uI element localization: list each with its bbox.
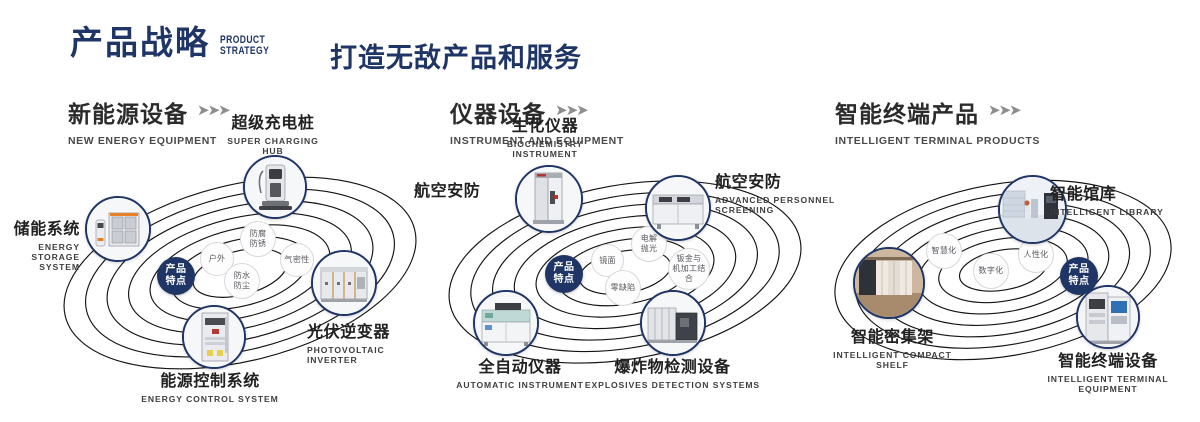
chevron-right-icon: ➤➤➤ xyxy=(988,101,1020,119)
node-photovoltaic-inverter[interactable] xyxy=(311,250,377,316)
label-cn: 智能终端设备 xyxy=(1023,347,1193,371)
core-line-2: 特点 xyxy=(166,276,187,288)
core-line-1: 产品 xyxy=(166,264,187,276)
label-cn: 智能馆库 xyxy=(1050,180,1185,204)
label-en: INTELLIGENT LIBRARY xyxy=(1050,207,1185,217)
label-intelligent-terminal-equipment: 智能终端设备 INTELLIGENT TERMINAL EQUIPMENT xyxy=(1023,347,1193,394)
header-title-cn: 产品战略 xyxy=(70,26,210,59)
feature-bubble: 钣金与 机加工结合 xyxy=(668,248,710,290)
label-cn: 超级充电桩 xyxy=(223,109,323,133)
diagram-new-energy: 产品 特点 户外 防腐 防锈 防水 防尘 气密性 xyxy=(55,155,425,385)
feature-line-1: 户外 xyxy=(209,254,226,264)
label-cn: 航空安防 xyxy=(715,168,845,192)
feature-bubble: 防腐 防锈 xyxy=(240,221,276,257)
label-cn: 爆炸物检测设备 xyxy=(575,353,770,377)
node-automatic-instrument[interactable] xyxy=(473,290,539,356)
node-energy-control-system[interactable] xyxy=(182,305,246,369)
label-cn: 航空安防 xyxy=(414,177,504,201)
feature-line-1: 电解 xyxy=(641,234,658,244)
feature-bubble: 零缺陷 xyxy=(605,270,641,306)
node-intelligent-compact-shelf[interactable] xyxy=(853,247,925,319)
label-cn: 生化仪器 xyxy=(470,112,620,136)
self-service-kiosk-icon xyxy=(1078,287,1138,347)
label-en: BIOCHEMISTRY INSTRUMENT xyxy=(470,139,620,159)
feature-line-2: 抛光 xyxy=(641,244,658,254)
explosives-detector-icon xyxy=(642,292,704,354)
label-cn: 智能密集架 xyxy=(810,323,975,347)
label-cn: 光伏逆变器 xyxy=(307,318,437,342)
core-line-2: 特点 xyxy=(1069,276,1090,288)
feature-bubble: 数字化 xyxy=(973,253,1009,289)
feature-line-2: 机加工结合 xyxy=(669,264,709,284)
label-en: EXPLOSIVES DETECTION SYSTEMS xyxy=(575,380,770,390)
label-intelligent-compact-shelf: 智能密集架 INTELLIGENT COMPACT SHELF xyxy=(810,323,975,370)
node-advanced-personnel-screening[interactable] xyxy=(645,175,711,241)
poster-canvas: 产品战略 PRODUCT STRATEGY 打造无敌产品和服务 新能源设备➤➤➤… xyxy=(0,0,1200,422)
diagram-instrument: 产品 特点 镜面 电解 抛光 零缺陷 钣金与 机加工结合 航空安防 xyxy=(440,160,810,390)
label-en: ENERGY CONTROL SYSTEM xyxy=(90,394,330,404)
core-line-1: 产品 xyxy=(554,262,575,274)
label-en: ADVANCED PERSONNEL SCREENING xyxy=(715,195,845,215)
control-cabinet-icon xyxy=(184,307,244,367)
feature-line-2: 防尘 xyxy=(234,281,251,291)
feature-line-1: 防水 xyxy=(234,271,251,281)
screening-machine-icon xyxy=(647,177,709,239)
feature-bubble: 防水 防尘 xyxy=(224,263,260,299)
label-cn: 能源控制系统 xyxy=(90,367,330,391)
label-en: SUPER CHARGING HUB xyxy=(223,136,323,156)
charging-pile-icon xyxy=(245,157,305,217)
label-photovoltaic-inverter: 光伏逆变器 PHOTOVOLTAIC INVERTER xyxy=(307,318,437,365)
core-line-1: 产品 xyxy=(1069,264,1090,276)
label-en: INTELLIGENT COMPACT SHELF xyxy=(810,350,975,370)
core-bubble-product-features: 产品 特点 xyxy=(157,257,195,295)
header-title-en: PRODUCT STRATEGY xyxy=(220,35,269,57)
label-aviation-security-left: 航空安防 xyxy=(414,177,504,201)
label-super-charging-hub: 超级充电桩 SUPER CHARGING HUB xyxy=(223,109,323,156)
feature-bubble: 智慧化 xyxy=(926,233,962,269)
section-title-en: NEW ENERGY EQUIPMENT xyxy=(68,135,229,147)
node-intelligent-terminal-equipment[interactable] xyxy=(1076,285,1140,349)
label-en: INTELLIGENT TERMINAL EQUIPMENT xyxy=(1023,374,1193,394)
feature-line-1: 钣金与 xyxy=(677,254,702,264)
label-cn: 储能系统 xyxy=(0,215,80,239)
label-energy-storage-system: 储能系统 ENERGY STORAGE SYSTEM xyxy=(0,215,80,272)
feature-line-1: 智慧化 xyxy=(932,246,957,256)
label-biochemistry-instrument: 生化仪器 BIOCHEMISTRY INSTRUMENT xyxy=(470,112,620,159)
feature-bubble: 气密性 xyxy=(280,243,314,277)
security-scanner-icon xyxy=(517,167,581,231)
feature-line-1: 零缺陷 xyxy=(611,283,636,293)
feature-line-1: 气密性 xyxy=(285,255,310,265)
energy-storage-cabinet-icon xyxy=(87,198,149,260)
automatic-analyzer-icon xyxy=(475,292,537,354)
pv-inverter-cabinet-icon xyxy=(313,252,375,314)
section-heading-new-energy: 新能源设备➤➤➤ NEW ENERGY EQUIPMENT xyxy=(68,95,229,147)
node-explosives-detection-systems[interactable] xyxy=(640,290,706,356)
label-explosives-detection-systems: 爆炸物检测设备 EXPLOSIVES DETECTION SYSTEMS xyxy=(575,353,770,390)
label-advanced-personnel-screening: 航空安防 ADVANCED PERSONNEL SCREENING xyxy=(715,168,845,215)
label-en: PHOTOVOLTAIC INVERTER xyxy=(307,345,437,365)
header-slogan: 打造无敌产品和服务 xyxy=(330,36,582,75)
core-line-2: 特点 xyxy=(554,274,575,286)
node-super-charging-hub[interactable] xyxy=(243,155,307,219)
label-energy-control-system: 能源控制系统 ENERGY CONTROL SYSTEM xyxy=(90,367,330,404)
feature-line-1: 人性化 xyxy=(1024,250,1049,260)
section-title-en: INTELLIGENT TERMINAL PRODUCTS xyxy=(835,135,1040,147)
core-bubble-product-features: 产品 特点 xyxy=(545,255,583,293)
node-biochemistry-instrument[interactable] xyxy=(515,165,583,233)
compact-shelf-icon xyxy=(855,249,923,317)
label-en: ENERGY STORAGE SYSTEM xyxy=(0,242,80,272)
feature-line-1: 镜面 xyxy=(599,256,616,266)
poster-header: 产品战略 PRODUCT STRATEGY xyxy=(70,26,283,59)
section-heading-intelligent-terminal: 智能终端产品➤➤➤ INTELLIGENT TERMINAL PRODUCTS xyxy=(835,95,1040,147)
feature-line-1: 防腐 xyxy=(250,229,267,239)
feature-line-2: 防锈 xyxy=(250,239,267,249)
section-title-cn: 新能源设备 xyxy=(68,95,188,129)
feature-line-1: 数字化 xyxy=(979,266,1004,276)
label-intelligent-library: 智能馆库 INTELLIGENT LIBRARY xyxy=(1050,180,1185,217)
node-energy-storage-system[interactable] xyxy=(85,196,151,262)
section-title-cn: 智能终端产品 xyxy=(835,95,979,129)
diagram-intelligent-terminal: 智慧化 数字化 人性化 产品 特点 xyxy=(828,165,1178,390)
